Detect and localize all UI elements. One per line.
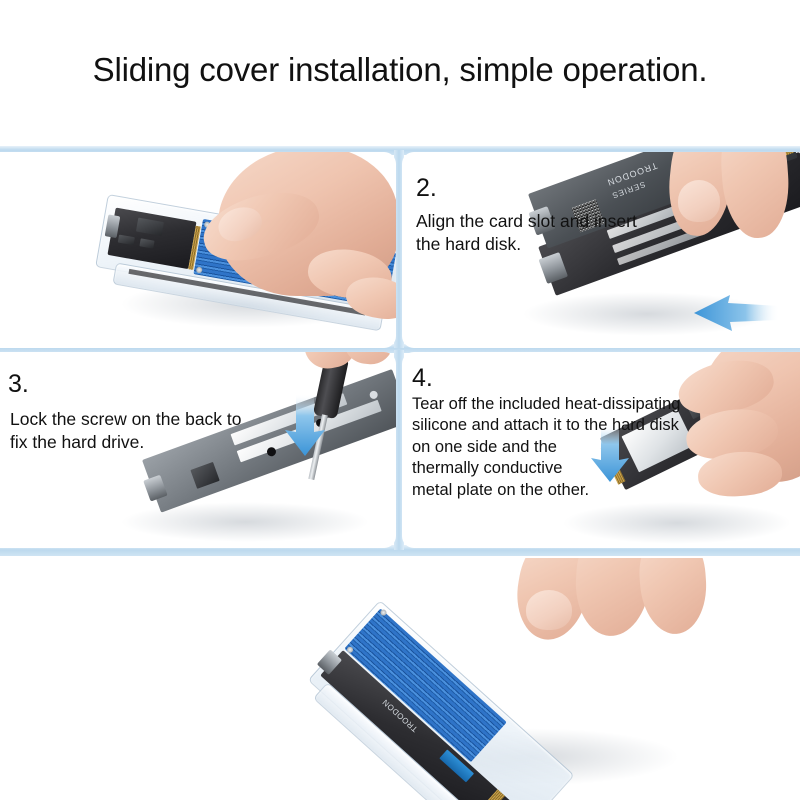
page-title-bar: Sliding cover installation, simple opera… — [0, 0, 800, 140]
step-panel-1: 1. Press the back cover and slide open. — [0, 152, 396, 348]
step-panel-2: TROODON SERIES — [402, 152, 800, 348]
step-panel-5: TROODON — [0, 558, 800, 800]
step-5-photo: TROODON — [0, 558, 800, 800]
step-2-number: 2. — [416, 176, 437, 201]
step-1-photo — [0, 152, 396, 348]
hand — [518, 558, 708, 654]
installation-guide-page: Sliding cover installation, simple opera… — [0, 0, 800, 800]
step-3-text: Lock the screw on the back to fix the ha… — [10, 408, 300, 454]
hand — [196, 152, 396, 324]
shadow — [120, 502, 370, 542]
arrow-left-icon — [690, 294, 782, 334]
thumb — [718, 152, 793, 240]
step-3-number: 3. — [8, 372, 29, 397]
step-4-number: 4. — [412, 366, 433, 391]
page-title: Sliding cover installation, simple opera… — [93, 51, 708, 89]
step-panel-4: 4. Tear off the included heat-dissipatin… — [402, 352, 800, 548]
ring-finger — [636, 558, 709, 636]
hand — [300, 352, 396, 372]
step-2-text: Align the card slot and insert the hard … — [416, 210, 686, 256]
step-4-text: Tear off the included heat-dissipating s… — [412, 394, 752, 501]
step-panel-3: 3. Lock the screw on the back to fix the… — [0, 352, 396, 548]
index-nail — [526, 590, 572, 630]
